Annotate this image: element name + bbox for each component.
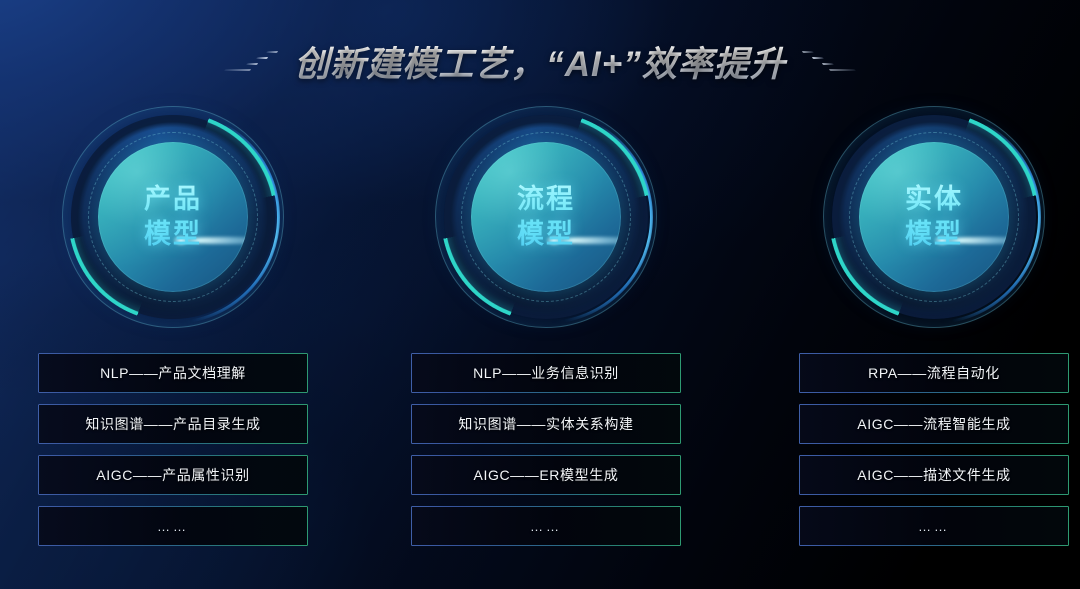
- list-item-label: RPA——流程自动化: [868, 363, 1000, 383]
- list-item[interactable]: NLP——产品文档理解: [38, 353, 308, 393]
- title-decoration-left-icon: [224, 47, 278, 75]
- circle-label-process: 流程 模型: [517, 182, 575, 251]
- circle-label-entity: 实体 模型: [905, 182, 963, 251]
- circle-label-line1: 实体: [905, 182, 963, 217]
- column-entity-model: 实体 模型 RPA——流程自动化 AIGC——流程智能生成 AIGC——描述文件…: [799, 104, 1069, 344]
- title-decoration-right-icon: [802, 47, 856, 75]
- list-item-label: ……: [157, 519, 189, 534]
- circle-label-line2: 模型: [144, 217, 202, 252]
- list-item[interactable]: AIGC——描述文件生成: [799, 455, 1069, 495]
- list-item[interactable]: 知识图谱——实体关系构建: [411, 404, 681, 444]
- list-item-label: 知识图谱——产品目录生成: [85, 414, 260, 434]
- slide-title-row: 创新建模工艺，“AI+”效率提升: [0, 34, 1080, 88]
- circle-graphic-process: 流程 模型: [411, 104, 681, 344]
- item-list-entity: RPA——流程自动化 AIGC——流程智能生成 AIGC——描述文件生成 ……: [799, 353, 1069, 557]
- list-item[interactable]: AIGC——ER模型生成: [411, 455, 681, 495]
- circle-inner-disc: 流程 模型: [471, 142, 621, 292]
- list-item[interactable]: AIGC——产品属性识别: [38, 455, 308, 495]
- list-item[interactable]: NLP——业务信息识别: [411, 353, 681, 393]
- list-item-ellipsis[interactable]: ……: [38, 506, 308, 546]
- circle-label-line2: 模型: [517, 217, 575, 252]
- circle-inner-disc: 产品 模型: [98, 142, 248, 292]
- list-item-label: NLP——产品文档理解: [100, 363, 246, 383]
- circle-label-line2: 模型: [905, 217, 963, 252]
- list-item-ellipsis[interactable]: ……: [799, 506, 1069, 546]
- list-item-ellipsis[interactable]: ……: [411, 506, 681, 546]
- circle-graphic-product: 产品 模型: [38, 104, 308, 344]
- list-item-label: ……: [530, 519, 562, 534]
- list-item-label: AIGC——流程智能生成: [857, 414, 1010, 434]
- circle-graphic-entity: 实体 模型: [799, 104, 1069, 344]
- item-list-product: NLP——产品文档理解 知识图谱——产品目录生成 AIGC——产品属性识别 ……: [38, 353, 308, 557]
- circle-inner-disc: 实体 模型: [859, 142, 1009, 292]
- circle-label-product: 产品 模型: [144, 182, 202, 251]
- list-item-label: AIGC——描述文件生成: [857, 465, 1010, 485]
- column-process-model: 流程 模型 NLP——业务信息识别 知识图谱——实体关系构建 AIGC——ER模…: [411, 104, 681, 344]
- list-item-label: 知识图谱——实体关系构建: [458, 414, 633, 434]
- circle-label-line1: 流程: [517, 182, 575, 217]
- list-item-label: ……: [918, 519, 950, 534]
- slide-canvas: 创新建模工艺，“AI+”效率提升 产品 模型: [0, 0, 1080, 589]
- list-item[interactable]: AIGC——流程智能生成: [799, 404, 1069, 444]
- list-item[interactable]: 知识图谱——产品目录生成: [38, 404, 308, 444]
- list-item-label: NLP——业务信息识别: [473, 363, 619, 383]
- circle-label-line1: 产品: [144, 182, 202, 217]
- page-title: 创新建模工艺，“AI+”效率提升: [292, 36, 787, 87]
- list-item-label: AIGC——产品属性识别: [96, 465, 249, 485]
- list-item[interactable]: RPA——流程自动化: [799, 353, 1069, 393]
- list-item-label: AIGC——ER模型生成: [474, 465, 619, 485]
- item-list-process: NLP——业务信息识别 知识图谱——实体关系构建 AIGC——ER模型生成 ……: [411, 353, 681, 557]
- column-product-model: 产品 模型 NLP——产品文档理解 知识图谱——产品目录生成 AIGC——产品属…: [38, 104, 308, 344]
